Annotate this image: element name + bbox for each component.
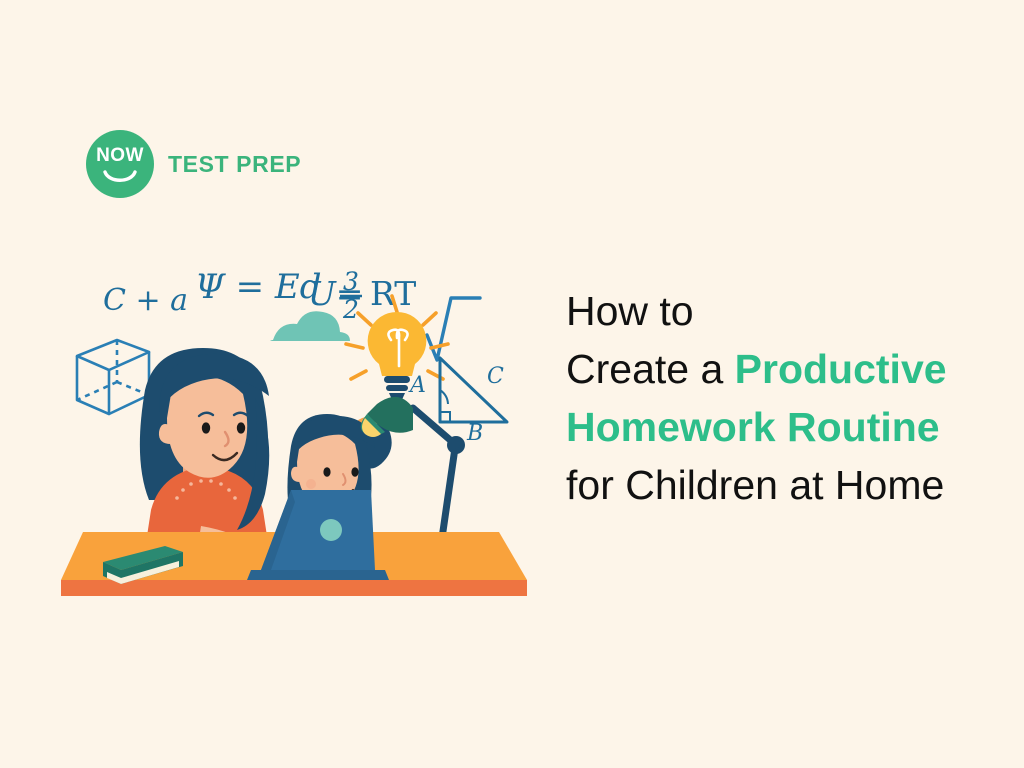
headline-line-3-accent: Homework Routine xyxy=(566,404,940,450)
svg-text:3: 3 xyxy=(343,267,359,296)
doodle-triangle-icon: A B C xyxy=(408,358,507,446)
headline: How to Create a Productive Homework Rout… xyxy=(566,282,986,514)
headline-line-2-plain: Create a xyxy=(566,346,735,392)
svg-text:A: A xyxy=(408,373,426,398)
headline-line-4-text: for Children at Home xyxy=(566,462,944,508)
svg-text:C: C xyxy=(487,364,504,389)
headline-line-1-text: How to xyxy=(566,288,694,334)
illustration-svg: C + a Ψ = Ed U= 3 2 RT xyxy=(55,240,555,600)
logo-circle-mark: NOW xyxy=(86,130,154,198)
doodle-cloud-icon xyxy=(270,311,350,341)
headline-line-1: How to xyxy=(566,282,986,340)
svg-text:2: 2 xyxy=(342,295,359,324)
svg-text:Ψ = Ed: Ψ = Ed xyxy=(195,267,322,307)
svg-text:C + a: C + a xyxy=(103,283,188,318)
doodle-radical-icon xyxy=(427,298,480,360)
doodle-formula-psi: Ψ = Ed xyxy=(195,267,322,307)
headline-line-3: Homework Routine xyxy=(566,398,986,456)
doodle-cube-icon xyxy=(77,340,149,414)
svg-text:B: B xyxy=(466,421,483,446)
brand-logo[interactable]: NOW TEST PREP xyxy=(86,130,301,198)
homework-illustration: C + a Ψ = Ed U= 3 2 RT xyxy=(55,240,555,600)
logo-now-text: NOW xyxy=(96,146,144,165)
headline-line-2-accent: Productive xyxy=(735,346,947,392)
headline-line-2: Create a Productive xyxy=(566,340,986,398)
svg-text:RT: RT xyxy=(370,274,416,313)
smile-icon xyxy=(103,170,137,185)
doodle-formula-ca: C + a xyxy=(103,283,188,318)
brand-wordmark: TEST PREP xyxy=(168,151,301,178)
headline-line-4: for Children at Home xyxy=(566,456,986,514)
banner-root: NOW TEST PREP C + a Ψ = xyxy=(0,0,1024,768)
